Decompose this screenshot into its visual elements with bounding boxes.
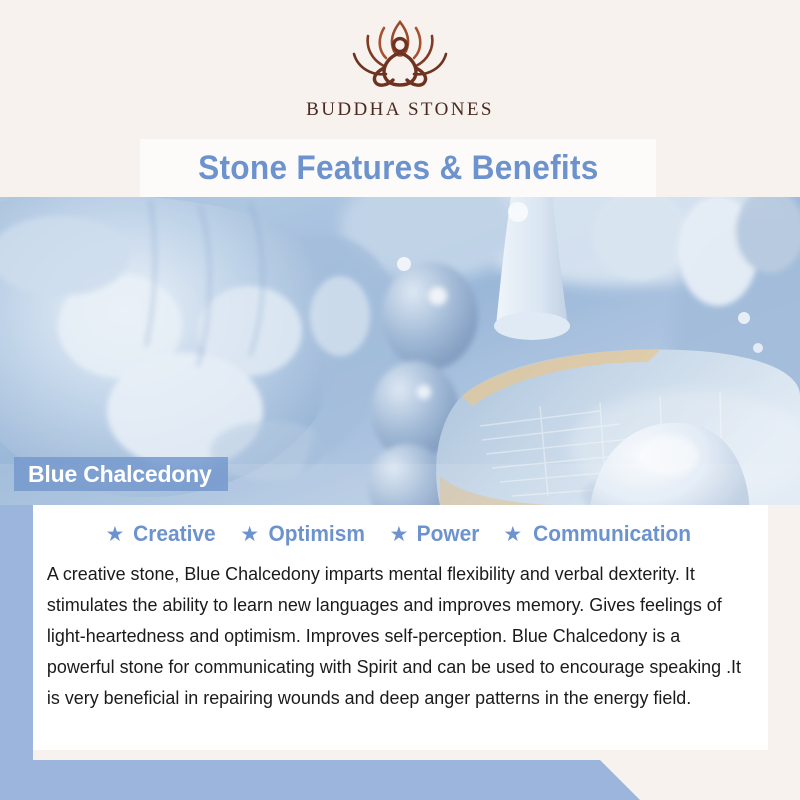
star-icon: ★ [240, 524, 259, 545]
title-panel: Stone Features & Benefits [140, 139, 656, 197]
infographic-page: BUDDHA STONES Stone Features & Benefits [0, 0, 800, 800]
keyword-label: Power [417, 521, 480, 547]
star-icon: ★ [106, 524, 125, 545]
stone-name-text: Blue Chalcedony [28, 461, 212, 488]
stone-photo: Blue Chalcedony [0, 196, 800, 505]
description-card: ★ Creative ★ Optimism ★ Power ★ Communic… [33, 505, 768, 750]
stone-name-label: Blue Chalcedony [14, 457, 228, 491]
brand-header: BUDDHA STONES [0, 0, 800, 140]
frame-left-bar [0, 490, 33, 778]
frame-bottom-bar [0, 760, 800, 800]
keyword-item-communication: ★ Communication [503, 521, 695, 547]
star-icon: ★ [503, 524, 522, 545]
description-text: A creative stone, Blue Chalcedony impart… [41, 559, 749, 714]
keyword-item-creative: ★ Creative [106, 521, 219, 547]
title-banner: Stone Features & Benefits [0, 139, 800, 197]
keyword-label: Optimism [269, 521, 365, 547]
keyword-item-power: ★ Power [390, 521, 482, 547]
star-icon: ★ [390, 524, 409, 545]
keyword-label: Communication [533, 521, 691, 547]
keyword-label: Creative [134, 521, 217, 547]
brand-name: BUDDHA STONES [306, 99, 494, 121]
lotus-meditation-figure-icon [340, 14, 460, 96]
page-title: Stone Features & Benefits [198, 149, 599, 188]
keyword-list: ★ Creative ★ Optimism ★ Power ★ Communic… [41, 521, 760, 547]
keyword-item-optimism: ★ Optimism [240, 521, 367, 547]
